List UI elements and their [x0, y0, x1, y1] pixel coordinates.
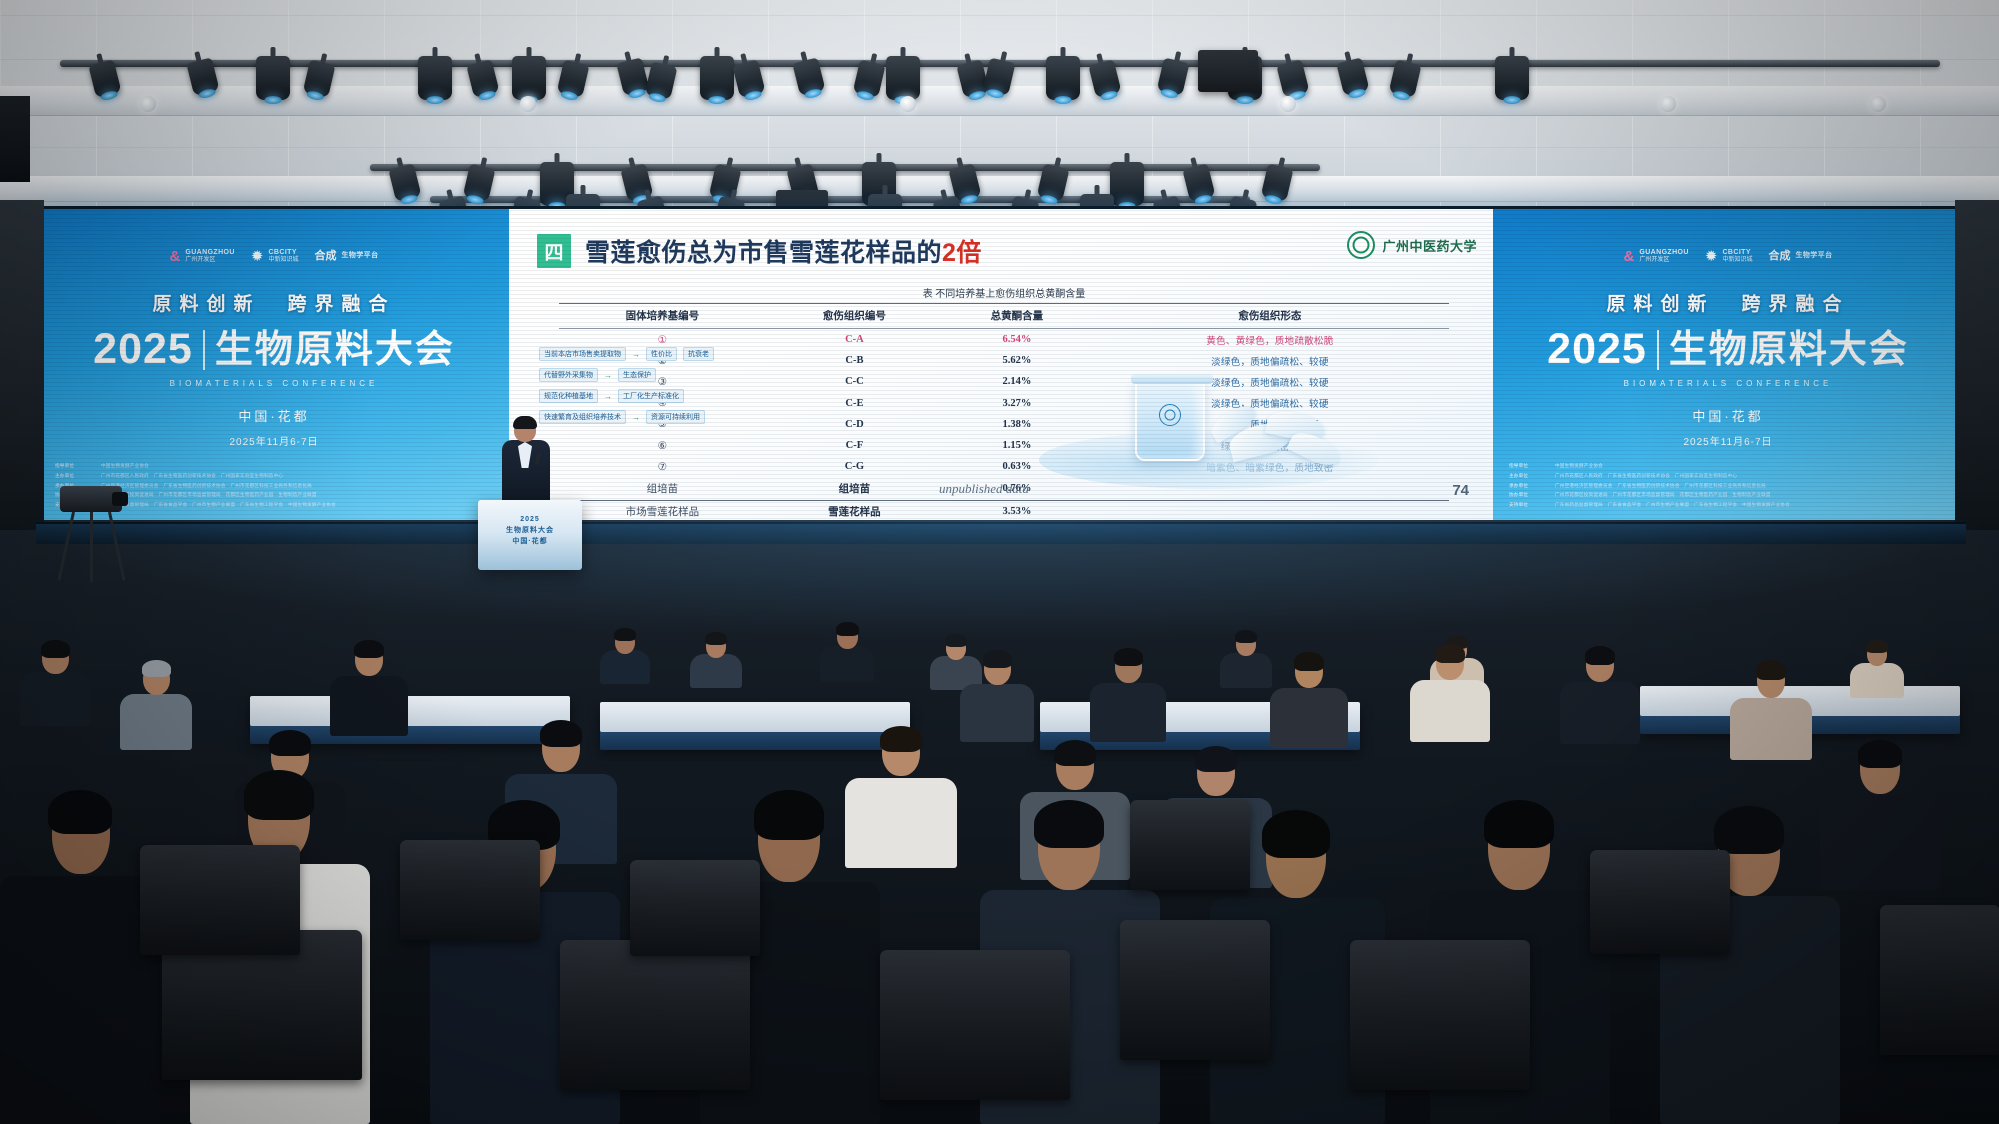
chair — [140, 845, 300, 955]
audience-member — [960, 650, 1034, 742]
sponsor-logo-1-text: GUANGZHOU 广州开发区 — [1639, 249, 1689, 264]
audience-hair — [244, 770, 314, 820]
cell-flavonoid: 0.63% — [943, 456, 1091, 477]
audience-hair — [880, 726, 922, 752]
bullet-item: 当前本店市场售卖提取物 → 性价比 抗衰老 — [539, 347, 839, 361]
col-header-morphology: 愈伤组织形态 — [1091, 304, 1449, 329]
ampersand-logo-icon: & — [1624, 249, 1635, 264]
audience-hair — [705, 632, 727, 645]
event-slogan: 原料创新 跨界融合 — [39, 289, 509, 316]
bullet-item: 规范化种植基地 → 工厂化生产标准化 — [539, 389, 839, 403]
chair — [1120, 920, 1270, 1060]
bullet-text: 生态保护 — [618, 368, 656, 382]
fineprint-key: 承办单位 — [1509, 482, 1549, 490]
audience-member — [600, 628, 650, 684]
audience-hair — [1294, 652, 1324, 671]
bullet-tag: 代替野外采集物 — [539, 368, 598, 382]
side-wall-left — [0, 200, 44, 530]
audience-body — [1410, 680, 1490, 742]
sponsor-logo-2: ✹ CBCITY 中新知识城 — [251, 249, 299, 264]
sponsor-logo-3-line1: 生物学平台 — [341, 252, 378, 260]
audience-member — [120, 660, 192, 750]
backdrop-left-panel: & GUANGZHOU 广州开发区 ✹ CBCITY 中新知识城 合成 — [39, 209, 509, 523]
bullet-item: 快速繁育及组织培养技术 → 资源可持续利用 — [539, 410, 839, 424]
arrow-icon: → — [604, 392, 612, 401]
sponsor-logo-3: 合成 生物学平台 — [314, 251, 378, 262]
event-location: 中国·花都 — [1493, 406, 1963, 425]
ceiling-downlight-icon — [140, 96, 156, 112]
organizer-fineprint-right: 指导单位中国生物发酵产业协会 主办单位广州市花都区人民政府 广东省生物医药创新技… — [1493, 462, 1963, 511]
arrow-icon: → — [604, 371, 612, 380]
audience-hair — [1585, 646, 1615, 665]
audience-hair — [41, 640, 70, 658]
arrow-icon: → — [632, 350, 640, 359]
event-year: 2025 — [93, 328, 193, 371]
audience-hair — [1034, 800, 1104, 848]
bullet-extra: 抗衰老 — [683, 347, 714, 361]
university-logo: 广州中医药大学 — [1347, 231, 1477, 259]
cell-flavonoid: 6.54% — [943, 329, 1091, 351]
chair — [880, 950, 1070, 1100]
cell-morphology — [1091, 477, 1449, 500]
audience-hair — [1866, 640, 1888, 653]
audience-member — [1270, 652, 1348, 748]
cell-morphology: 淡绿色，质地偏疏松、较硬 — [1091, 371, 1449, 392]
table-header-row: 固体培养基编号 愈伤组织编号 总黄酮含量 愈伤组织形态 — [559, 304, 1449, 329]
audience-body — [960, 684, 1034, 742]
sponsor-logo-1: & GUANGZHOU 广州开发区 — [1624, 249, 1689, 264]
ampersand-logo-icon: & — [170, 249, 181, 264]
stage-light-icon — [256, 56, 290, 100]
sponsor-logo-row: & GUANGZHOU 广州开发区 ✹ CBCITY 中新知识城 合成 — [1493, 245, 1963, 267]
audience-body — [1850, 663, 1904, 698]
tripod-leg — [57, 512, 74, 581]
audience-hair — [1235, 630, 1257, 643]
stage-light-icon — [512, 56, 546, 100]
audience-member — [1560, 646, 1640, 744]
audience-body — [1220, 653, 1272, 688]
university-emblem-icon — [1347, 231, 1375, 259]
fineprint-value: 广州市花都区投资促进局 广州市花都区市场监督管理局 花都区生物医药产业园 生物制… — [1555, 491, 1947, 499]
fineprint-key: 协办单位 — [1509, 491, 1549, 499]
podium-line-3: 中国·花都 — [478, 536, 582, 547]
cell-medium-id: ⑦ — [559, 456, 766, 477]
cell-callus-id: C-F — [766, 435, 943, 456]
slide-title: 雪莲愈伤总为市售雪莲花样品的2倍 — [585, 233, 982, 269]
backdrop-right-panel: & GUANGZHOU 广州开发区 ✹ CBCITY 中新知识城 合成 — [1493, 209, 1963, 523]
stage-light-icon — [700, 56, 734, 100]
sponsor-logo-2-text: CBCITY 中新知识城 — [268, 249, 298, 264]
bullet-tag: 规范化种植基地 — [539, 389, 598, 403]
audience-body — [0, 876, 160, 1124]
bullet-text: 性价比 — [646, 347, 677, 361]
cell-morphology: 淡绿色，质地偏疏松、较硬 — [1091, 350, 1449, 371]
event-name-en: BIOMATERIALS CONFERENCE — [39, 379, 509, 388]
audience-hair — [48, 790, 112, 834]
audience-hair — [142, 660, 171, 677]
cell-morphology: 黄色、黄绿色，质地疏散松脆 — [1091, 329, 1449, 351]
ceiling-downlight-icon — [520, 96, 536, 112]
audience-body — [1090, 683, 1166, 742]
sponsor-logo-1: & GUANGZHOU 广州开发区 — [170, 249, 235, 264]
audience-hair — [1714, 806, 1784, 854]
table-row: ⑦ C-G 0.63% 暗紫色、暗紫绿色，质地致密 — [559, 456, 1449, 477]
tripod-leg — [108, 512, 125, 581]
slide-bullet-list: 当前本店市场售卖提取物 → 性价比 抗衰老 代替野外采集物 → 生态保护 规范化… — [539, 347, 839, 431]
ceiling-downlight-icon — [900, 96, 916, 112]
stage-light-icon — [418, 56, 452, 100]
camera-lens-icon — [112, 492, 128, 506]
stage-light-icon — [1110, 162, 1144, 206]
fineprint-value: 中国生物发酵产业协会 — [101, 462, 493, 470]
bullet-text: 资源可持续利用 — [646, 410, 705, 424]
sponsor-logo-3-text: 生物学平台 — [341, 252, 378, 260]
podium-line-1: 2025 — [478, 514, 582, 525]
fineprint-value: 广州市花都区人民政府 广东省生物医药创新技术协会 广州国家实验室生物制造中心 — [101, 472, 493, 480]
audience-body — [1270, 688, 1348, 748]
audience-body — [120, 694, 192, 750]
sponsor-logo-1-line1: GUANGZHOU — [185, 249, 235, 257]
ceiling-downlight-icon — [1870, 96, 1886, 112]
cell-morphology: 淡绿色，质地偏疏松、较硬 — [1091, 393, 1449, 414]
audience-member — [1090, 648, 1166, 742]
sponsor-logo-row: & GUANGZHOU 广州开发区 ✹ CBCITY 中新知识城 合成 — [39, 245, 509, 267]
audience-body — [1560, 682, 1640, 744]
audience-body — [690, 654, 742, 688]
video-camera — [52, 486, 130, 582]
event-slogan: 原料创新 跨界融合 — [1493, 289, 1963, 316]
cbcity-logo-icon: ✹ — [251, 249, 264, 264]
side-wall-right — [1955, 200, 1999, 530]
table-caption: 表 不同培养基上愈伤组织总黄酮含量 — [509, 285, 1499, 300]
lighting-truss-second — [370, 164, 1320, 171]
audience-hair — [614, 628, 636, 641]
sponsor-logo-2-text: CBCITY 中新知识城 — [1722, 249, 1752, 264]
synbio-logo-icon: 合成 — [314, 251, 336, 262]
chair — [630, 860, 760, 956]
fineprint-key: 支持单位 — [1509, 501, 1549, 509]
col-header-medium: 固体培养基编号 — [559, 304, 766, 329]
col-header-flavonoid: 总黄酮含量 — [943, 304, 1091, 329]
fineprint-value: 广东省药品监督管理局 广东省食品学会 广州市生物产业联盟 广东省生物工程学会 中… — [1555, 501, 1947, 509]
fineprint-value: 广州市花都区人民政府 广东省生物医药创新技术协会 广州国家实验室生物制造中心 — [1555, 472, 1947, 480]
cell-flavonoid: 1.15% — [943, 435, 1091, 456]
section-number-badge: 四 — [537, 234, 571, 268]
slide-footnote: unpublished data — [939, 481, 1029, 497]
fineprint-value: 中国生物发酵产业协会 — [1555, 462, 1947, 470]
sponsor-logo-2-line1: CBCITY — [1722, 249, 1752, 257]
event-name-en: BIOMATERIALS CONFERENCE — [1493, 379, 1963, 388]
title-divider — [1657, 330, 1659, 370]
sponsor-logo-2-line2: 中新知识城 — [268, 257, 298, 263]
university-logo-label: 广州中医药大学 — [1382, 236, 1477, 255]
sponsor-logo-1-line1: GUANGZHOU — [1639, 249, 1689, 257]
led-backdrop-wall: & GUANGZHOU 广州开发区 ✹ CBCITY 中新知识城 合成 — [36, 206, 1966, 526]
audience-member — [690, 632, 742, 688]
audience-hair — [945, 634, 967, 647]
sponsor-logo-3-text: 生物学平台 — [1795, 252, 1832, 260]
cell-medium-id: ⑥ — [559, 435, 766, 456]
cell-morphology: 暗紫色、暗紫绿色，质地致密 — [1091, 456, 1449, 477]
sponsor-logo-2-line2: 中新知识城 — [1722, 257, 1752, 263]
fineprint-key: 主办单位 — [55, 472, 95, 480]
podium-line-2: 生物原料大会 — [478, 525, 582, 536]
fineprint-value: 广州空港经济区管理委员会 广东省生物医药创新技术协会 广州市花都区科技工业商务和… — [101, 482, 493, 490]
event-title-block: 2025 生物原料大会 — [1493, 328, 1963, 371]
audience-hair — [1195, 746, 1237, 772]
audience-member — [20, 640, 90, 726]
audience-body — [600, 650, 650, 684]
sponsor-logo-1-text: GUANGZHOU 广州开发区 — [185, 249, 235, 264]
audience-hair — [269, 730, 311, 756]
audience-member — [820, 622, 874, 682]
chair — [1880, 905, 1999, 1055]
sponsor-logo-3: 合成 生物学平台 — [1768, 251, 1832, 262]
bullet-tag: 当前本店市场售卖提取物 — [539, 347, 626, 361]
sponsor-logo-2-line1: CBCITY — [268, 249, 298, 257]
sponsor-logo-2: ✹ CBCITY 中新知识城 — [1705, 249, 1753, 264]
presenter — [498, 418, 554, 510]
sponsor-logo-3-line1: 生物学平台 — [1795, 252, 1832, 260]
ceiling-downlight-icon — [1660, 96, 1676, 112]
audience-hair — [354, 640, 384, 658]
chair — [1590, 850, 1730, 954]
stage-light-icon — [1046, 56, 1080, 100]
audience-hair — [1435, 644, 1465, 663]
audience-hair — [1114, 648, 1143, 666]
audience-member — [0, 790, 160, 1124]
audience-body — [820, 646, 874, 682]
audience-member — [1730, 660, 1812, 760]
podium: 2025 生物原料大会 中国·花都 — [478, 500, 582, 570]
cell-callus-id: 组培苗 — [766, 477, 943, 500]
audience-hair — [1262, 810, 1330, 858]
fineprint-key: 指导单位 — [55, 462, 95, 470]
sponsor-logo-1-line2: 广州开发区 — [185, 257, 215, 263]
tripod-leg — [90, 512, 93, 582]
audience-hair — [836, 622, 859, 636]
audience-hair — [1484, 800, 1554, 848]
event-date: 2025年11月6-7日 — [1493, 433, 1963, 448]
title-divider — [203, 330, 205, 370]
audience-hair — [540, 720, 582, 747]
audience-hair — [983, 650, 1012, 668]
cell-morphology: 绿色，质地致密，较硬 — [1091, 414, 1449, 435]
fineprint-value: 广州市花都区投资促进局 广州市花都区市场监督管理局 花都区生物医药产业园 生物制… — [101, 491, 493, 499]
bullet-item: 代替野外采集物 → 生态保护 — [539, 368, 839, 382]
audience-body — [330, 676, 408, 736]
ceiling-speaker-icon — [1198, 50, 1258, 92]
event-title-block: 2025 生物原料大会 — [39, 328, 509, 371]
podium-branding: 2025 生物原料大会 中国·花都 — [478, 514, 582, 548]
slide-title-highlight: 2倍 — [942, 239, 982, 267]
synbio-logo-icon: 合成 — [1768, 251, 1790, 262]
chair — [400, 840, 540, 940]
audience-member — [1410, 644, 1490, 742]
presenter-hair — [513, 416, 537, 429]
audience-hair — [1054, 740, 1096, 766]
table-row: ⑥ C-F 1.15% 绿色，质地致密，较硬 — [559, 435, 1449, 456]
cell-flavonoid: 1.38% — [943, 414, 1091, 435]
audience-body — [1730, 698, 1812, 760]
audience-member — [1220, 630, 1272, 688]
audience-hair — [1858, 740, 1902, 768]
cbcity-logo-icon: ✹ — [1705, 249, 1718, 264]
chair — [1350, 940, 1530, 1090]
arrow-icon: → — [632, 413, 640, 422]
ceiling-downlight-icon — [1280, 96, 1296, 112]
presentation-slide: 四 雪莲愈伤总为市售雪莲花样品的2倍 广州中医药大学 表 不同培养基上愈伤组织总… — [509, 209, 1499, 523]
cell-medium-id: 组培苗 — [559, 477, 766, 500]
bullet-text: 工厂化生产标准化 — [618, 389, 684, 403]
cell-morphology: 绿色，质地致密，较硬 — [1091, 435, 1449, 456]
event-name: 生物原料大会 — [1669, 331, 1909, 369]
audience-hair — [1756, 660, 1786, 680]
audience-hair — [754, 790, 824, 840]
slide-page-number: 74 — [1452, 482, 1469, 499]
audience-member — [1850, 640, 1904, 698]
cell-flavonoid: 3.27% — [943, 393, 1091, 414]
fineprint-key: 主办单位 — [1509, 472, 1549, 480]
fineprint-value: 广州空港经济区管理委员会 广东省生物医药创新技术协会 广州市花都区科技工业商务和… — [1555, 482, 1947, 490]
stage-light-icon — [1495, 56, 1529, 100]
conference-photo-scene: & GUANGZHOU 广州开发区 ✹ CBCITY 中新知识城 合成 — [0, 0, 1999, 1124]
cell-callus-id: C-G — [766, 456, 943, 477]
stage-light-icon — [886, 56, 920, 100]
event-name: 生物原料大会 — [215, 331, 455, 369]
slide-title-main: 雪莲愈伤总为市售雪莲花样品的 — [585, 239, 942, 267]
cell-flavonoid: 5.62% — [943, 350, 1091, 371]
chair — [560, 940, 750, 1090]
sponsor-logo-1-line2: 广州开发区 — [1639, 257, 1669, 263]
audience-member — [330, 640, 408, 736]
wall-speaker-icon — [0, 96, 30, 182]
audience-body — [20, 672, 90, 726]
event-location: 中国·花都 — [39, 406, 509, 425]
chair — [1130, 800, 1250, 890]
stage-edge — [36, 522, 1966, 544]
cell-flavonoid: 2.14% — [943, 371, 1091, 392]
fineprint-key: 指导单位 — [1509, 462, 1549, 470]
event-date: 2025年11月6-7日 — [39, 433, 509, 448]
fineprint-value: 广东省药品监督管理局 广东省食品学会 广州市生物产业联盟 广东省生物工程学会 中… — [101, 501, 493, 509]
col-header-callus: 愈伤组织编号 — [766, 304, 943, 329]
event-year: 2025 — [1547, 328, 1647, 371]
